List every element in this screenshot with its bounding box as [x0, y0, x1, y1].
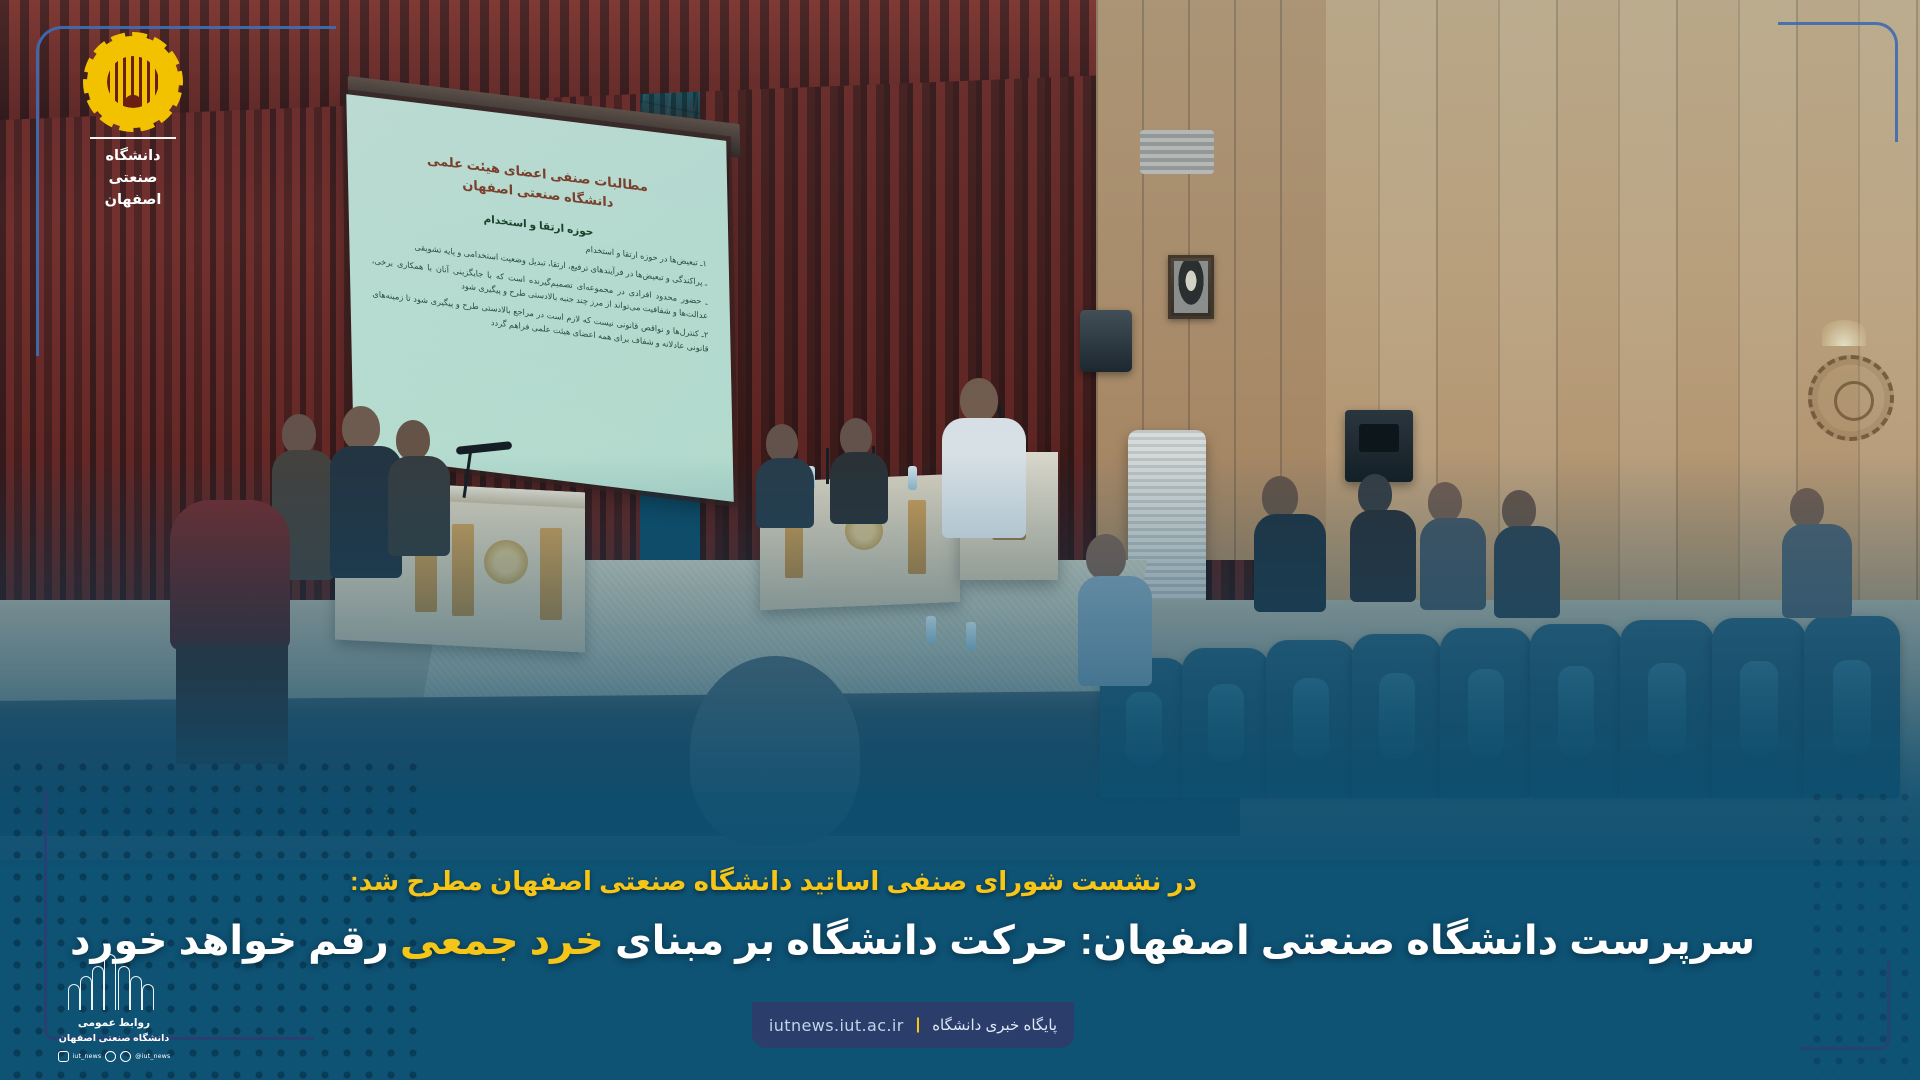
instagram-icon[interactable] — [58, 1051, 69, 1062]
telegram-icon[interactable] — [105, 1051, 116, 1062]
headline: سرپرست دانشگاه صنعتی اصفهان: حرکت دانشگا… — [70, 912, 1770, 970]
university-brand: دانشگاه صنعتی اصفهان — [58, 36, 208, 211]
minaret-arches-icon — [66, 952, 162, 1010]
brand-name-line2: صنعتی — [58, 168, 208, 190]
site-badge[interactable]: پایگاه خبری دانشگاه | iutnews.iut.ac.ir — [752, 1002, 1074, 1048]
pr-subtitle: دانشگاه صنعتی اصفهان — [52, 1032, 176, 1046]
site-badge-label: پایگاه خبری دانشگاه — [932, 1016, 1057, 1034]
public-relations-logo: روابط عمومی دانشگاه صنعتی اصفهان iut_new… — [52, 952, 176, 1062]
brand-name-line3: اصفهان — [58, 190, 208, 212]
instagram-handle[interactable]: iut_news — [73, 1053, 102, 1060]
site-badge-separator: | — [916, 1017, 920, 1033]
telegram-handle[interactable]: @iut_news — [135, 1053, 170, 1060]
aparat-icon[interactable] — [120, 1051, 131, 1062]
news-banner: مطالبات صنفی اعضای هیئت علمی دانشگاه صنع… — [0, 0, 1920, 1080]
decorative-frame-bottom-right — [1800, 960, 1890, 1050]
brand-divider — [90, 137, 176, 139]
iut-gear-seal-icon — [87, 36, 179, 128]
headline-part1: سرپرست دانشگاه صنعتی اصفهان: حرکت دانشگا… — [604, 919, 1755, 963]
brand-name-line1: دانشگاه — [58, 146, 208, 168]
pr-title: روابط عمومی — [52, 1016, 176, 1032]
headline-highlight: خرد جمعی — [400, 919, 604, 963]
site-url[interactable]: iutnews.iut.ac.ir — [769, 1016, 904, 1035]
social-links[interactable]: iut_news @iut_news — [52, 1051, 176, 1062]
decorative-frame-top-right — [1778, 22, 1898, 142]
kicker-text: در نشست شورای صنفی اساتید دانشگاه صنعتی … — [350, 866, 1770, 897]
